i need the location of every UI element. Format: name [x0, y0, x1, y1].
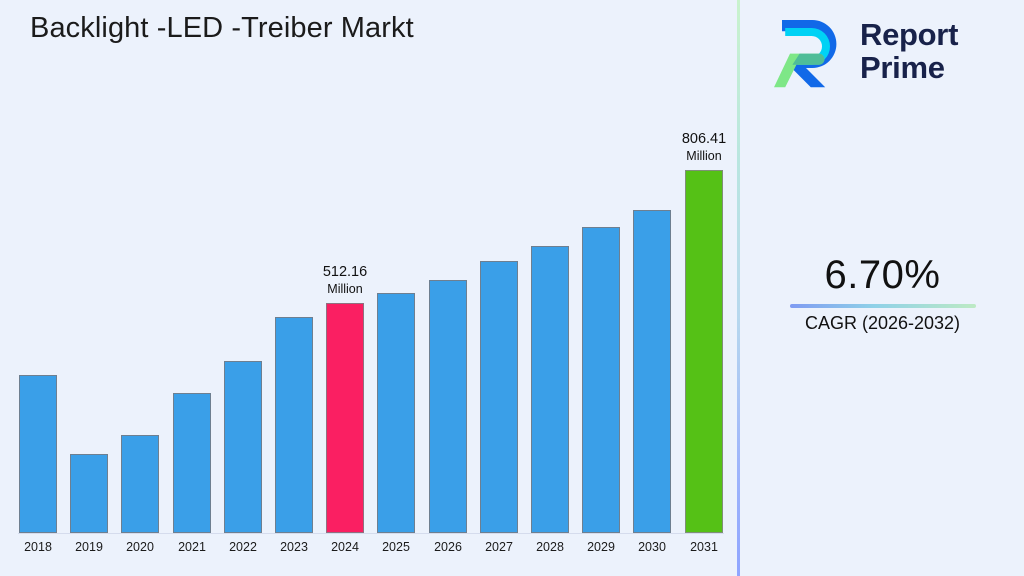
bar-rect-2018[interactable]	[19, 375, 57, 533]
bar-2018[interactable]	[19, 375, 57, 533]
x-tick-2025: 2025	[377, 540, 415, 554]
bar-rect-2028[interactable]	[531, 246, 569, 533]
x-tick-2026: 2026	[429, 540, 467, 554]
chart-baseline	[18, 533, 724, 534]
cagr-block: 6.70% CAGR (2026-2032)	[741, 253, 1024, 334]
panel-divider	[737, 0, 740, 576]
brand-name: Report Prime	[860, 19, 958, 84]
x-tick-2029: 2029	[582, 540, 620, 554]
bar-2025[interactable]	[377, 293, 415, 533]
bar-2021[interactable]	[173, 393, 211, 533]
x-tick-2018: 2018	[19, 540, 57, 554]
bar-rect-2026[interactable]	[429, 280, 467, 533]
x-tick-2023: 2023	[275, 540, 313, 554]
cagr-caption: CAGR (2026-2032)	[741, 313, 1024, 334]
bar-rect-2025[interactable]	[377, 293, 415, 533]
bar-rect-2022[interactable]	[224, 361, 262, 533]
bar-2028[interactable]	[531, 246, 569, 533]
x-tick-2020: 2020	[121, 540, 159, 554]
bar-chart-plot: 201820192020202120222023512.16Million202…	[0, 0, 738, 576]
bar-rect-2021[interactable]	[173, 393, 211, 533]
bar-2022[interactable]	[224, 361, 262, 533]
chart-panel: Backlight -LED -Treiber Markt 2018201920…	[0, 0, 738, 576]
bar-rect-2024[interactable]	[326, 303, 364, 533]
x-tick-2019: 2019	[70, 540, 108, 554]
x-tick-2022: 2022	[224, 540, 262, 554]
bar-value-2024: 512.16	[294, 264, 396, 281]
bar-2029[interactable]	[582, 227, 620, 533]
bar-value-label-2024: 512.16Million	[294, 264, 396, 296]
bar-2020[interactable]	[121, 435, 159, 533]
bar-rect-2027[interactable]	[480, 261, 518, 533]
x-tick-2027: 2027	[480, 540, 518, 554]
bar-2023[interactable]	[275, 317, 313, 533]
bar-2027[interactable]	[480, 261, 518, 533]
report-prime-r-logo-icon	[766, 12, 846, 92]
x-tick-2030: 2030	[633, 540, 671, 554]
brand-logo: Report Prime	[766, 12, 958, 92]
cagr-divider-rule	[790, 304, 976, 308]
x-tick-2021: 2021	[173, 540, 211, 554]
x-tick-2024: 2024	[326, 540, 364, 554]
info-panel: Report Prime 6.70% CAGR (2026-2032)	[741, 0, 1024, 576]
bar-2031[interactable]: 806.41Million	[685, 170, 723, 533]
bar-2024[interactable]: 512.16Million	[326, 303, 364, 533]
bar-rect-2019[interactable]	[70, 454, 108, 533]
bar-2019[interactable]	[70, 454, 108, 533]
bar-2030[interactable]	[633, 210, 671, 533]
bar-rect-2020[interactable]	[121, 435, 159, 533]
x-tick-2031: 2031	[685, 540, 723, 554]
bar-rect-2031[interactable]	[685, 170, 723, 533]
bar-rect-2030[interactable]	[633, 210, 671, 533]
bar-rect-2023[interactable]	[275, 317, 313, 533]
bar-2026[interactable]	[429, 280, 467, 533]
x-tick-2028: 2028	[531, 540, 569, 554]
cagr-value: 6.70%	[741, 253, 1024, 298]
bar-rect-2029[interactable]	[582, 227, 620, 533]
brand-name-line2: Prime	[860, 52, 958, 85]
chart-page: Backlight -LED -Treiber Markt 2018201920…	[0, 0, 1024, 576]
brand-name-line1: Report	[860, 19, 958, 52]
